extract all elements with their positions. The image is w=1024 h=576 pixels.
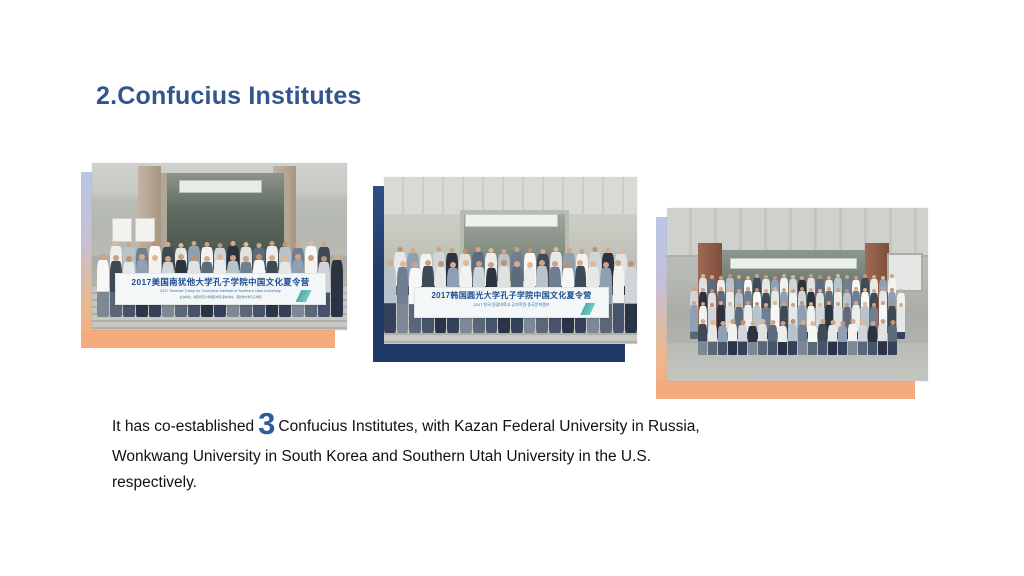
person <box>768 319 777 355</box>
person <box>738 319 747 355</box>
person <box>698 319 707 355</box>
person <box>331 254 343 317</box>
person-body <box>97 260 109 317</box>
person-body <box>798 325 807 355</box>
building-ceiling-2 <box>384 177 637 214</box>
banner-logo-mark-2 <box>569 303 600 315</box>
person <box>828 319 837 355</box>
wall-poster-left <box>112 218 132 242</box>
person-head <box>860 320 865 325</box>
person-head <box>780 321 785 326</box>
photo-frame-bottom-bar-1 <box>81 330 335 348</box>
person-body <box>748 326 757 355</box>
crowd-row-4-3 <box>667 319 928 355</box>
photo-kazan[interactable] <box>667 208 928 381</box>
photo-scene-2: 2017韩国圆光大学孔子学院中国文化夏令营 2017 한국 원광대학교 공자학원… <box>384 177 637 344</box>
banner-chinese-text-1: 2017美国南犹他大学孔子学院中国文化夏令营 <box>116 278 325 286</box>
person <box>613 260 625 333</box>
person-head <box>830 320 835 325</box>
institute-count: 3 <box>254 406 278 441</box>
body-middle-text: Confucius Institutes, with Kazan Federal… <box>278 418 699 435</box>
person <box>838 319 847 355</box>
person <box>778 319 787 355</box>
person-body <box>625 267 637 333</box>
person-body <box>808 326 817 355</box>
person <box>848 319 857 355</box>
person-body <box>828 325 837 355</box>
welcome-banner-3 <box>730 258 857 269</box>
person-body <box>728 324 737 355</box>
person-head <box>820 319 825 324</box>
person <box>708 319 717 355</box>
person-body <box>848 324 857 355</box>
person-body <box>778 326 787 355</box>
person-head <box>740 320 745 325</box>
page-title: 2.Confucius Institutes <box>96 82 362 111</box>
person-head <box>710 320 715 325</box>
body-line-3: respectively. <box>112 470 872 496</box>
photo-scene-3 <box>667 208 928 381</box>
person <box>868 319 877 355</box>
person-body <box>818 324 827 355</box>
person-body <box>788 324 797 355</box>
person-head <box>890 320 895 325</box>
wall-poster-right <box>135 218 155 242</box>
person-head <box>720 321 725 326</box>
person <box>818 319 827 355</box>
photo-block-southern-utah: 2017美国南犹他大学孔子学院中国文化夏令营 2017 Summer Camp … <box>81 163 347 330</box>
person-body <box>768 325 777 355</box>
photo-wonkwang[interactable]: 2017韩国圆光大学孔子学院中国文化夏令营 2017 한국 원광대학교 공자학원… <box>384 177 637 344</box>
person-body <box>698 324 707 355</box>
photo-scene-1: 2017美国南犹他大学孔子学院中国文化夏令营 2017 Summer Camp … <box>92 163 347 330</box>
person-body <box>868 326 877 355</box>
body-line-2: Wonkwang University in South Korea and S… <box>112 444 872 470</box>
person-body <box>878 324 887 355</box>
photo-block-wonkwang: 2017韩国圆光大学孔子学院中国文化夏令营 2017 한국 원광대학교 공자학원… <box>373 177 637 344</box>
person <box>718 319 727 355</box>
person-body <box>838 326 847 355</box>
photo-block-kazan <box>656 208 928 381</box>
person <box>728 319 737 355</box>
photo-frame-bottom-bar-3 <box>656 381 915 399</box>
person-head <box>880 319 885 324</box>
person <box>888 319 897 355</box>
person-body <box>708 325 717 355</box>
person <box>858 319 867 355</box>
person <box>625 260 637 333</box>
person-body <box>858 325 867 355</box>
person <box>748 319 757 355</box>
person-body <box>613 266 625 333</box>
body-paragraph: It has co-established3Confucius Institut… <box>112 410 872 496</box>
person-body <box>718 326 727 355</box>
person <box>758 319 767 355</box>
person-head <box>840 321 845 326</box>
person <box>788 319 797 355</box>
person <box>808 319 817 355</box>
person <box>384 260 396 333</box>
person <box>97 254 109 317</box>
person-body <box>397 267 409 333</box>
person-body <box>384 266 396 333</box>
person <box>798 319 807 355</box>
person-head <box>810 321 815 326</box>
person-head <box>770 320 775 325</box>
photo-southern-utah[interactable]: 2017美国南犹他大学孔子学院中国文化夏令营 2017 Summer Camp … <box>92 163 347 330</box>
banner-chinese-text-2: 2017韩国圆光大学孔子学院中国文化夏令营 <box>415 292 607 300</box>
person-head <box>790 319 795 324</box>
person <box>878 319 887 355</box>
crowd-3 <box>667 274 928 361</box>
person-head <box>750 321 755 326</box>
photo-frame-bottom-bar-2 <box>373 344 625 362</box>
photo-banner-1: 2017美国南犹他大学孔子学院中国文化夏令营 2017 Summer Camp … <box>115 273 326 305</box>
person-body <box>738 325 747 355</box>
banner-logo-mark-1 <box>283 290 316 303</box>
person <box>397 260 409 333</box>
person-body <box>758 324 767 355</box>
person-body <box>888 325 897 355</box>
person-head <box>730 319 735 324</box>
person-body <box>331 260 343 317</box>
person-head <box>850 319 855 324</box>
entrance-signboard <box>179 180 263 194</box>
body-lead-text: It has co-established <box>112 418 254 435</box>
slide-canvas: 2.Confucius Institutes 2017美国南犹他大学孔子学院中国… <box>0 0 1024 576</box>
person-head <box>700 319 705 324</box>
person-head <box>800 320 805 325</box>
person-head <box>760 319 765 324</box>
photo-banner-2: 2017韩国圆光大学孔子学院中国文化夏令营 2017 한국 원광대학교 공자학원… <box>414 287 608 317</box>
person-head <box>870 321 875 326</box>
entrance-signboard-2 <box>465 214 558 228</box>
